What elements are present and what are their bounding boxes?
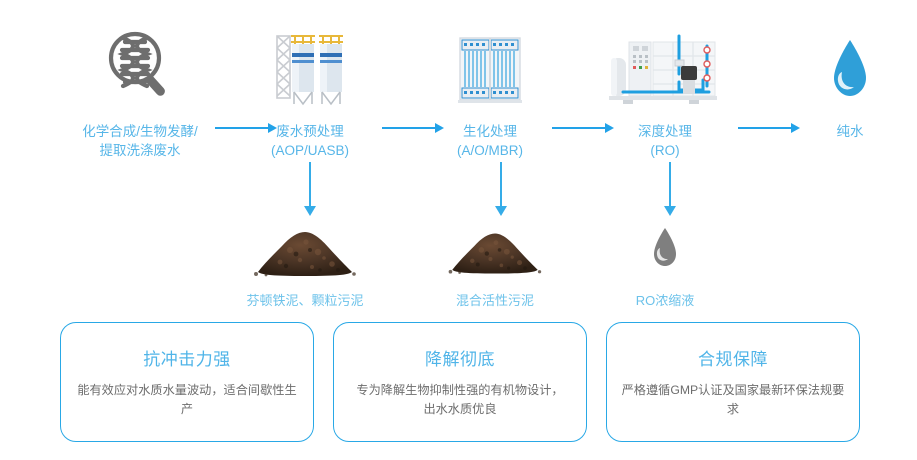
byproduct-arrow-1	[304, 162, 316, 216]
arrow-head	[495, 206, 507, 216]
byproduct-label: RO浓缩液	[605, 290, 725, 309]
feature-card-body-line1: 严格遵循GMP认证及国家最新环保法规要求	[621, 381, 845, 419]
stage-label-line1: 废水预处理	[240, 122, 380, 141]
arrow-head	[304, 206, 316, 216]
stage-label-line2: 提取洗涤废水	[45, 141, 235, 160]
stage-label: 废水预处理 (AOP/UASB)	[240, 122, 380, 160]
flow-stage-source: 化学合成/生物发酵/ 提取洗涤废水	[45, 18, 235, 160]
stage-label-line2: (RO)	[590, 141, 740, 160]
feature-card-list: 抗冲击力强 能有效应对水质水量波动，适合间歇性生产 降解彻底 专为降解生物抑制性…	[60, 322, 860, 442]
byproduct-fenton-sludge: 芬顿铁泥、颗粒污泥	[215, 218, 395, 309]
feature-card-body: 严格遵循GMP认证及国家最新环保法规要求	[621, 381, 845, 419]
ro-skid-icon	[590, 18, 740, 110]
silo-tanks-icon	[240, 18, 380, 110]
byproduct-label: 混合活性污泥	[425, 290, 565, 309]
stage-label-line2: (A/O/MBR)	[420, 141, 560, 160]
stage-label-line1: 生化处理	[420, 122, 560, 141]
arrow-head	[664, 206, 676, 216]
flow-stage-advanced: 深度处理 (RO)	[590, 18, 740, 160]
feature-card-title: 降解彻底	[425, 345, 495, 370]
flow-stage-biological: 生化处理 (A/O/MBR)	[420, 18, 560, 160]
byproduct-label: 芬顿铁泥、颗粒污泥	[215, 290, 395, 309]
mbr-membrane-icon	[420, 18, 560, 110]
feature-card-title: 抗冲击力强	[143, 345, 231, 370]
arrow-shaft	[738, 127, 792, 129]
stage-label: 深度处理 (RO)	[590, 122, 740, 160]
byproduct-activated-sludge: 混合活性污泥	[425, 218, 565, 309]
stage-label-line1: 化学合成/生物发酵/	[45, 122, 235, 141]
feature-card-compliance[interactable]: 合规保障 严格遵循GMP认证及国家最新环保法规要求	[606, 322, 860, 442]
flow-stage-pretreatment: 废水预处理 (AOP/UASB)	[240, 18, 380, 160]
flow-stage-purewater: 纯水	[790, 18, 910, 141]
arrow-shaft	[500, 162, 502, 207]
stage-label-line2: (AOP/UASB)	[240, 141, 380, 160]
feature-card-body-line2: 出水水质优良	[356, 400, 563, 419]
byproduct-arrow-2	[495, 162, 507, 216]
stage-label: 纯水	[790, 122, 910, 141]
feature-card-body-line1: 能有效应对水质水量波动，适合间歇性生产	[75, 381, 299, 419]
feature-card-title: 合规保障	[698, 345, 768, 370]
byproduct-ro-concentrate: RO浓缩液	[605, 218, 725, 309]
arrow-shaft	[309, 162, 311, 207]
sludge-pile-icon	[215, 218, 395, 278]
stage-label: 化学合成/生物发酵/ 提取洗涤废水	[45, 122, 235, 160]
stage-label: 生化处理 (A/O/MBR)	[420, 122, 560, 160]
feature-card-body: 能有效应对水质水量波动，适合间歇性生产	[75, 381, 299, 419]
arrow-shaft	[669, 162, 671, 207]
feature-card-body: 专为降解生物抑制性强的有机物设计， 出水水质优良	[356, 381, 563, 419]
feature-card-shock-resistance[interactable]: 抗冲击力强 能有效应对水质水量波动，适合间歇性生产	[60, 322, 314, 442]
stage-label-line1: 纯水	[790, 122, 910, 141]
byproduct-arrow-3	[664, 162, 676, 216]
water-drop-icon	[790, 18, 910, 110]
feature-card-body-line1: 专为降解生物抑制性强的有机物设计，	[356, 381, 563, 400]
dna-magnifier-icon	[45, 18, 235, 110]
gray-drop-icon	[605, 218, 725, 278]
sludge-pile-icon	[425, 218, 565, 278]
feature-card-degradation[interactable]: 降解彻底 专为降解生物抑制性强的有机物设计， 出水水质优良	[333, 322, 587, 442]
stage-label-line1: 深度处理	[590, 122, 740, 141]
